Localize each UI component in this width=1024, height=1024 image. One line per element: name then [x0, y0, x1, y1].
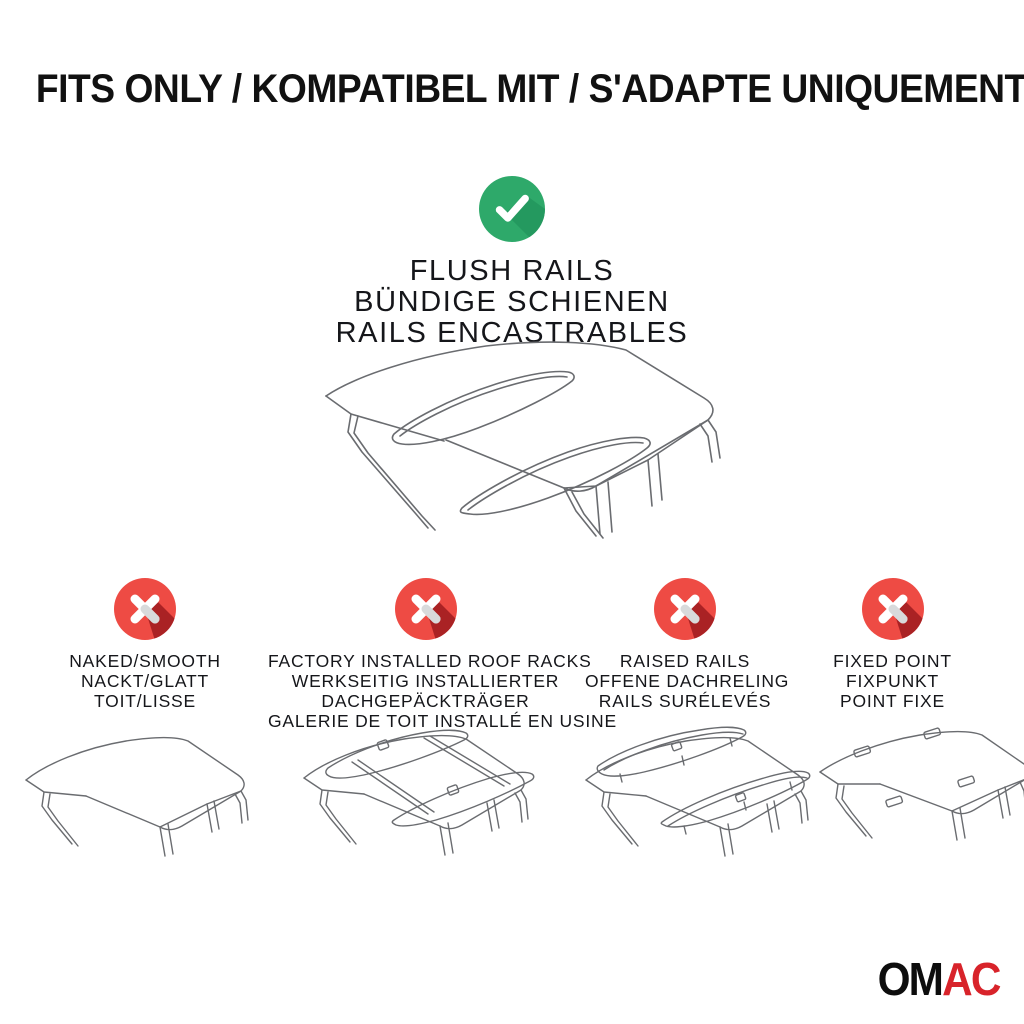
option-label-en: FIXED POINT	[800, 651, 985, 671]
logo-text-om: OM	[878, 953, 943, 1005]
flush-rails-roof-illustration	[296, 336, 756, 566]
option-labels: NAKED/SMOOTH NACKT/GLATT TOIT/LISSE	[35, 651, 255, 711]
naked-smooth-roof-illustration	[2, 716, 280, 896]
option-label-en: RAISED RAILS	[585, 651, 785, 671]
option-label-en: FACTORY INSTALLED ROOF RACKS	[268, 651, 583, 671]
compatible-label-de: BÜNDIGE SCHIENEN	[0, 287, 1024, 318]
option-labels: FIXED POINT FIXPUNKT POINT FIXE	[800, 651, 985, 711]
check-circle-icon	[479, 176, 545, 242]
cross-circle-icon	[862, 578, 924, 640]
raised-rails-illustration	[562, 716, 844, 896]
option-fixed-point: FIXED POINT FIXPUNKT POINT FIXE	[800, 578, 985, 711]
cross-circle-icon	[654, 578, 716, 640]
option-factory-installed-roof-racks: FACTORY INSTALLED ROOF RACKS WERKSEITIG …	[268, 578, 583, 731]
compatible-section: FLUSH RAILS BÜNDIGE SCHIENEN RAILS ENCAS…	[0, 176, 1024, 349]
cross-circle-icon	[395, 578, 457, 640]
option-label-fr: RAILS SURÉLEVÉS	[585, 691, 785, 711]
option-label-en: NAKED/SMOOTH	[35, 651, 255, 671]
logo-text-ac: AC	[943, 953, 1000, 1005]
option-naked-smooth: NAKED/SMOOTH NACKT/GLATT TOIT/LISSE	[35, 578, 255, 711]
factory-installed-roof-racks-illustration	[282, 716, 574, 896]
option-label-de-2: DACHGEPÄCKTRÄGER	[268, 691, 583, 711]
compatible-label-en: FLUSH RAILS	[0, 256, 1024, 287]
incompatible-illustrations-row	[0, 716, 1024, 896]
incompatible-options-row: NAKED/SMOOTH NACKT/GLATT TOIT/LISSE	[0, 578, 1024, 718]
cross-circle-icon	[114, 578, 176, 640]
omac-logo: OMAC	[878, 956, 1000, 1002]
option-label-de: FIXPUNKT	[800, 671, 985, 691]
page-title: FITS ONLY / KOMPATIBEL MIT / S'ADAPTE UN…	[36, 66, 988, 112]
option-raised-rails: RAISED RAILS OFFENE DACHRELING RAILS SUR…	[585, 578, 785, 711]
option-label-de-1: WERKSEITIG INSTALLIERTER	[268, 671, 583, 691]
option-labels: RAISED RAILS OFFENE DACHRELING RAILS SUR…	[585, 651, 785, 711]
option-label-fr: TOIT/LISSE	[35, 691, 255, 711]
option-label-fr: POINT FIXE	[800, 691, 985, 711]
fixed-point-illustration	[808, 716, 1024, 896]
option-label-de: NACKT/GLATT	[35, 671, 255, 691]
option-label-de: OFFENE DACHRELING	[585, 671, 785, 691]
